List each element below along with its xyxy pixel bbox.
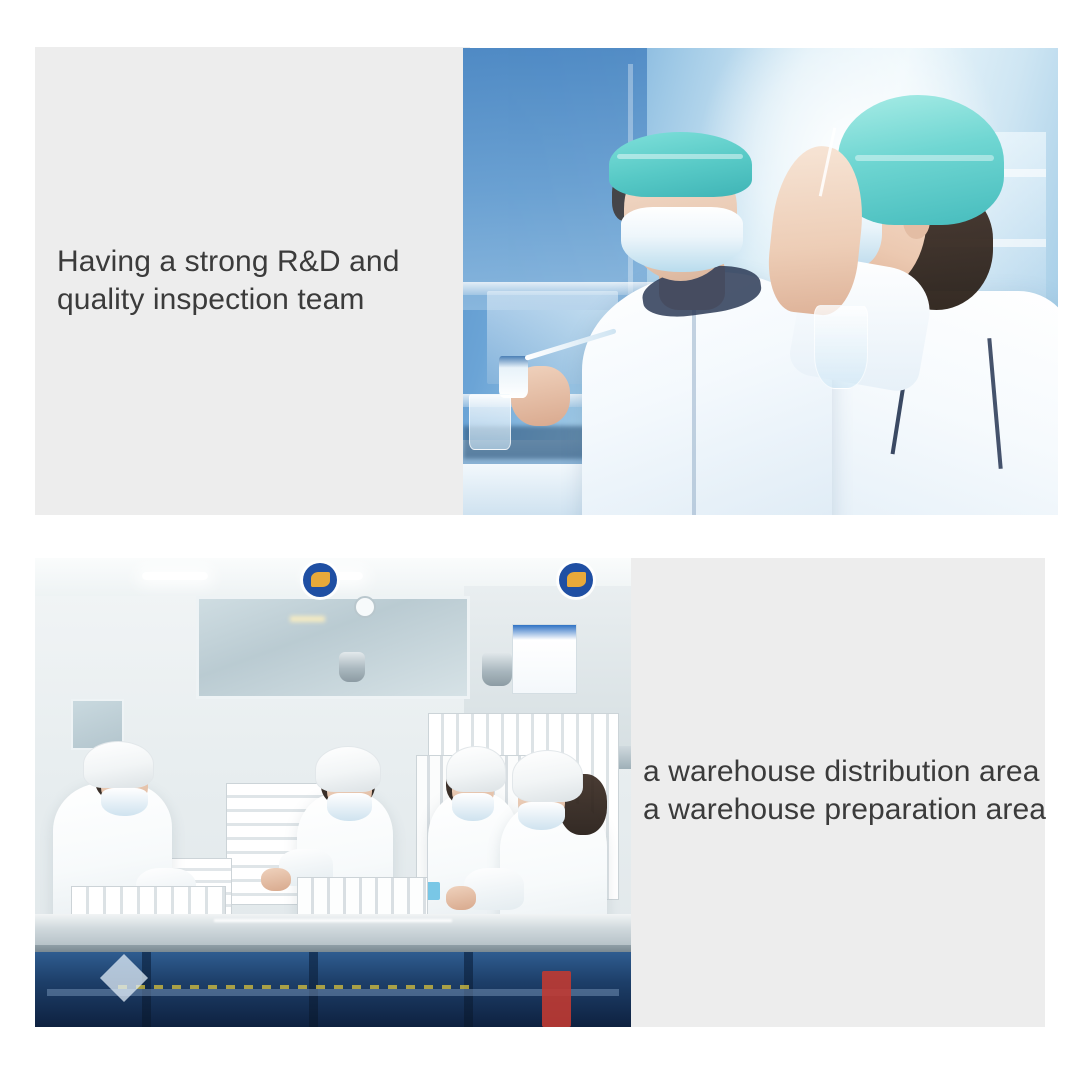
face-mask bbox=[518, 802, 566, 830]
cleanroom-window bbox=[196, 596, 470, 699]
face-mask bbox=[621, 207, 743, 272]
hair-net-cap bbox=[315, 746, 381, 793]
hair-net-cap bbox=[512, 750, 584, 802]
rd-caption-line-2: quality inspection team bbox=[57, 281, 399, 319]
blue-circular-sign-icon bbox=[303, 563, 337, 597]
warehouse-caption: a warehouse distribution area a warehous… bbox=[643, 753, 1046, 829]
hair-net-cap bbox=[838, 95, 1005, 226]
face-mask bbox=[101, 788, 149, 816]
warehouse-caption-line-2: a warehouse preparation area bbox=[643, 791, 1046, 829]
table-reflection bbox=[214, 919, 452, 922]
wall-clock-icon bbox=[354, 596, 376, 618]
hair-net-cap bbox=[609, 132, 752, 197]
blue-circular-sign-icon bbox=[559, 563, 593, 597]
red-bin bbox=[542, 971, 572, 1027]
rd-lab-photo bbox=[463, 48, 1058, 515]
page-root: Having a strong R&D and quality inspecti… bbox=[0, 0, 1080, 1080]
hand bbox=[261, 868, 291, 891]
beaker bbox=[469, 394, 511, 450]
glass-flask bbox=[814, 305, 868, 389]
rd-caption: Having a strong R&D and quality inspecti… bbox=[57, 243, 399, 319]
ceiling-light bbox=[142, 572, 208, 580]
floor-hazard-tape bbox=[118, 985, 476, 989]
wall-notice-poster bbox=[512, 624, 578, 694]
rd-caption-line-1: Having a strong R&D and bbox=[57, 243, 399, 281]
hand bbox=[446, 886, 476, 909]
face-mask bbox=[452, 793, 494, 821]
hair-net-cap bbox=[446, 746, 506, 793]
face-mask bbox=[327, 793, 372, 821]
warehouse-photo bbox=[35, 558, 631, 1027]
hair-net-cap bbox=[83, 741, 155, 788]
steel-container bbox=[339, 652, 365, 682]
steel-container bbox=[482, 652, 512, 686]
warehouse-caption-line-1: a warehouse distribution area bbox=[643, 753, 1046, 791]
sample-vial bbox=[499, 356, 529, 398]
